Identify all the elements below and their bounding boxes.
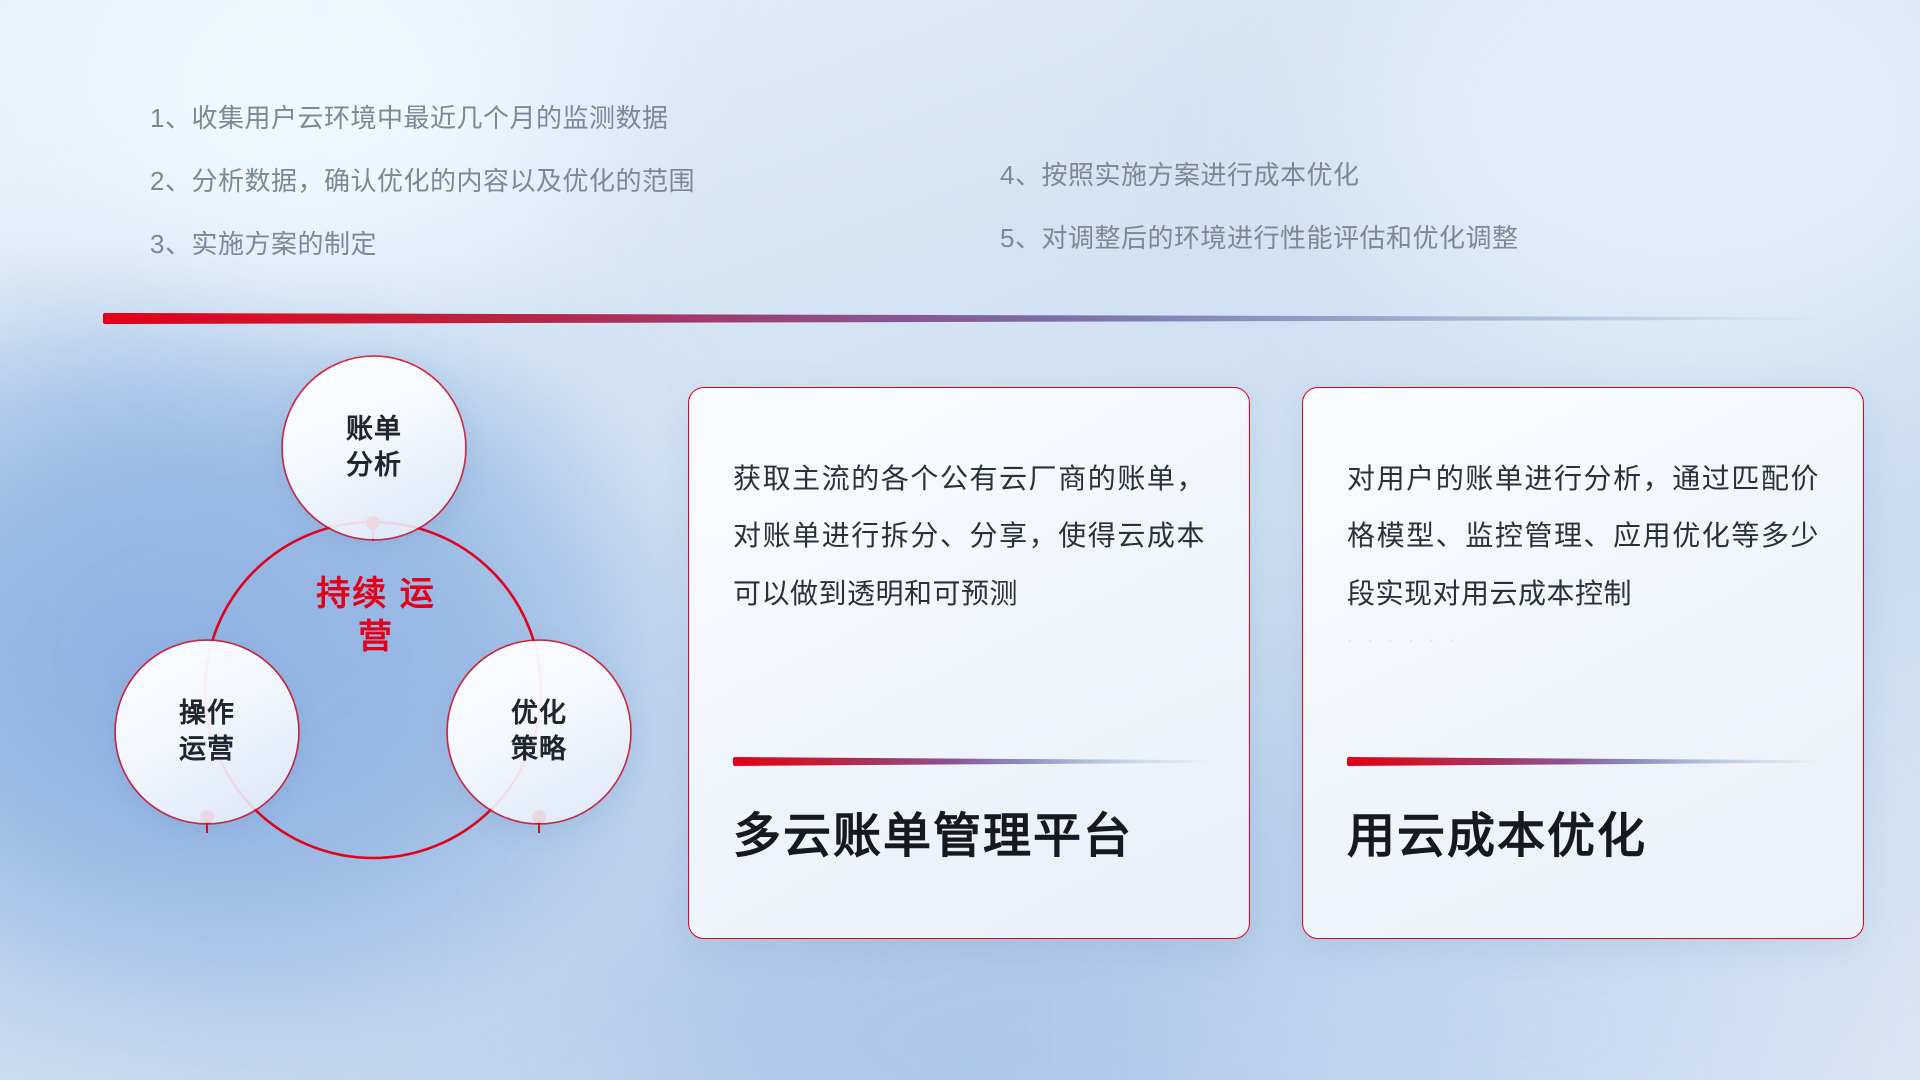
card-2-body: 对用户的账单进行分析，通过匹配价格模型、监控管理、应用优化等多少段实现对用云成本… bbox=[1347, 450, 1819, 622]
venn-center-label: 持续 运营 bbox=[306, 573, 446, 658]
venn-center-line1: 持续 bbox=[316, 575, 388, 613]
steps-list-left: 1、收集用户云环境中最近几个月的监测数据 2、分析数据，确认优化的内容以及优化的… bbox=[150, 98, 695, 287]
venn-bubble-operations[interactable]: 操作 运营 bbox=[116, 641, 298, 823]
venn-bubble-right-line2: 策略 bbox=[511, 732, 567, 768]
venn-bubble-right-line1: 优化 bbox=[511, 696, 567, 732]
venn-diagram: 账单 分析 操作 运营 优化 策略 持续 运营 bbox=[96, 355, 636, 955]
step-item-3: 3、实施方案的制定 bbox=[150, 224, 695, 261]
slide-canvas: 1、收集用户云环境中最近几个月的监测数据 2、分析数据，确认优化的内容以及优化的… bbox=[0, 0, 1920, 1080]
card-2-rule bbox=[1347, 757, 1821, 766]
venn-bubble-left-line1: 操作 bbox=[179, 696, 235, 732]
venn-bubble-top-line1: 账单 bbox=[346, 412, 402, 448]
card-multicloud-billing[interactable]: 获取主流的各个公有云厂商的账单，对账单进行拆分、分享，使得云成本可以做到透明和可… bbox=[688, 387, 1250, 939]
card-2-ghost-text: · · · · · · bbox=[1347, 630, 1819, 652]
card-cloud-cost-optimization[interactable]: 对用户的账单进行分析，通过匹配价格模型、监控管理、应用优化等多少段实现对用云成本… bbox=[1302, 387, 1864, 939]
card-2-title: 用云成本优化 bbox=[1347, 796, 1647, 866]
venn-bubble-optimization-strategy[interactable]: 优化 策略 bbox=[448, 641, 630, 823]
step-item-4: 4、按照实施方案进行成本优化 bbox=[1000, 155, 1518, 192]
venn-bubble-top-line2: 分析 bbox=[346, 448, 402, 484]
steps-list-right: 4、按照实施方案进行成本优化 5、对调整后的环境进行性能评估和优化调整 bbox=[1000, 155, 1518, 281]
card-1-body: 获取主流的各个公有云厂商的账单，对账单进行拆分、分享，使得云成本可以做到透明和可… bbox=[733, 450, 1205, 622]
card-1-ghost-text bbox=[733, 630, 1205, 652]
venn-bubble-bill-analysis[interactable]: 账单 分析 bbox=[283, 357, 465, 539]
card-1-title: 多云账单管理平台 bbox=[733, 796, 1133, 866]
card-1-rule bbox=[733, 757, 1207, 766]
step-item-1: 1、收集用户云环境中最近几个月的监测数据 bbox=[150, 98, 695, 135]
step-item-2: 2、分析数据，确认优化的内容以及优化的范围 bbox=[150, 161, 695, 198]
step-item-5: 5、对调整后的环境进行性能评估和优化调整 bbox=[1000, 218, 1518, 255]
section-divider bbox=[103, 313, 1813, 324]
venn-bubble-left-line2: 运营 bbox=[179, 732, 235, 768]
